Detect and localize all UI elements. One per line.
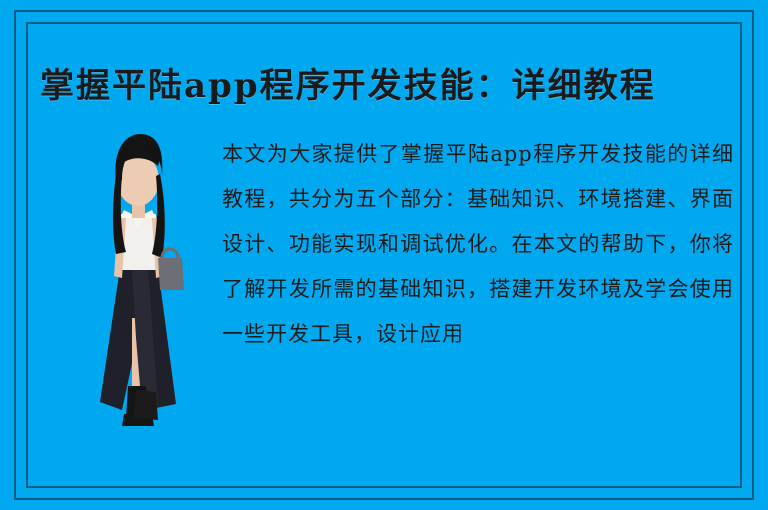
figure-svg	[72, 118, 204, 438]
poster-card: 掌握平陆app程序开发技能：详细教程	[0, 0, 768, 510]
standing-woman-figure-illustration	[72, 118, 204, 438]
page-title: 掌握平陆app程序开发技能：详细教程	[40, 58, 730, 107]
body-paragraph: 本文为大家提供了掌握平陆app程序开发技能的详细教程，共分为五个部分：基础知识、…	[222, 132, 734, 357]
